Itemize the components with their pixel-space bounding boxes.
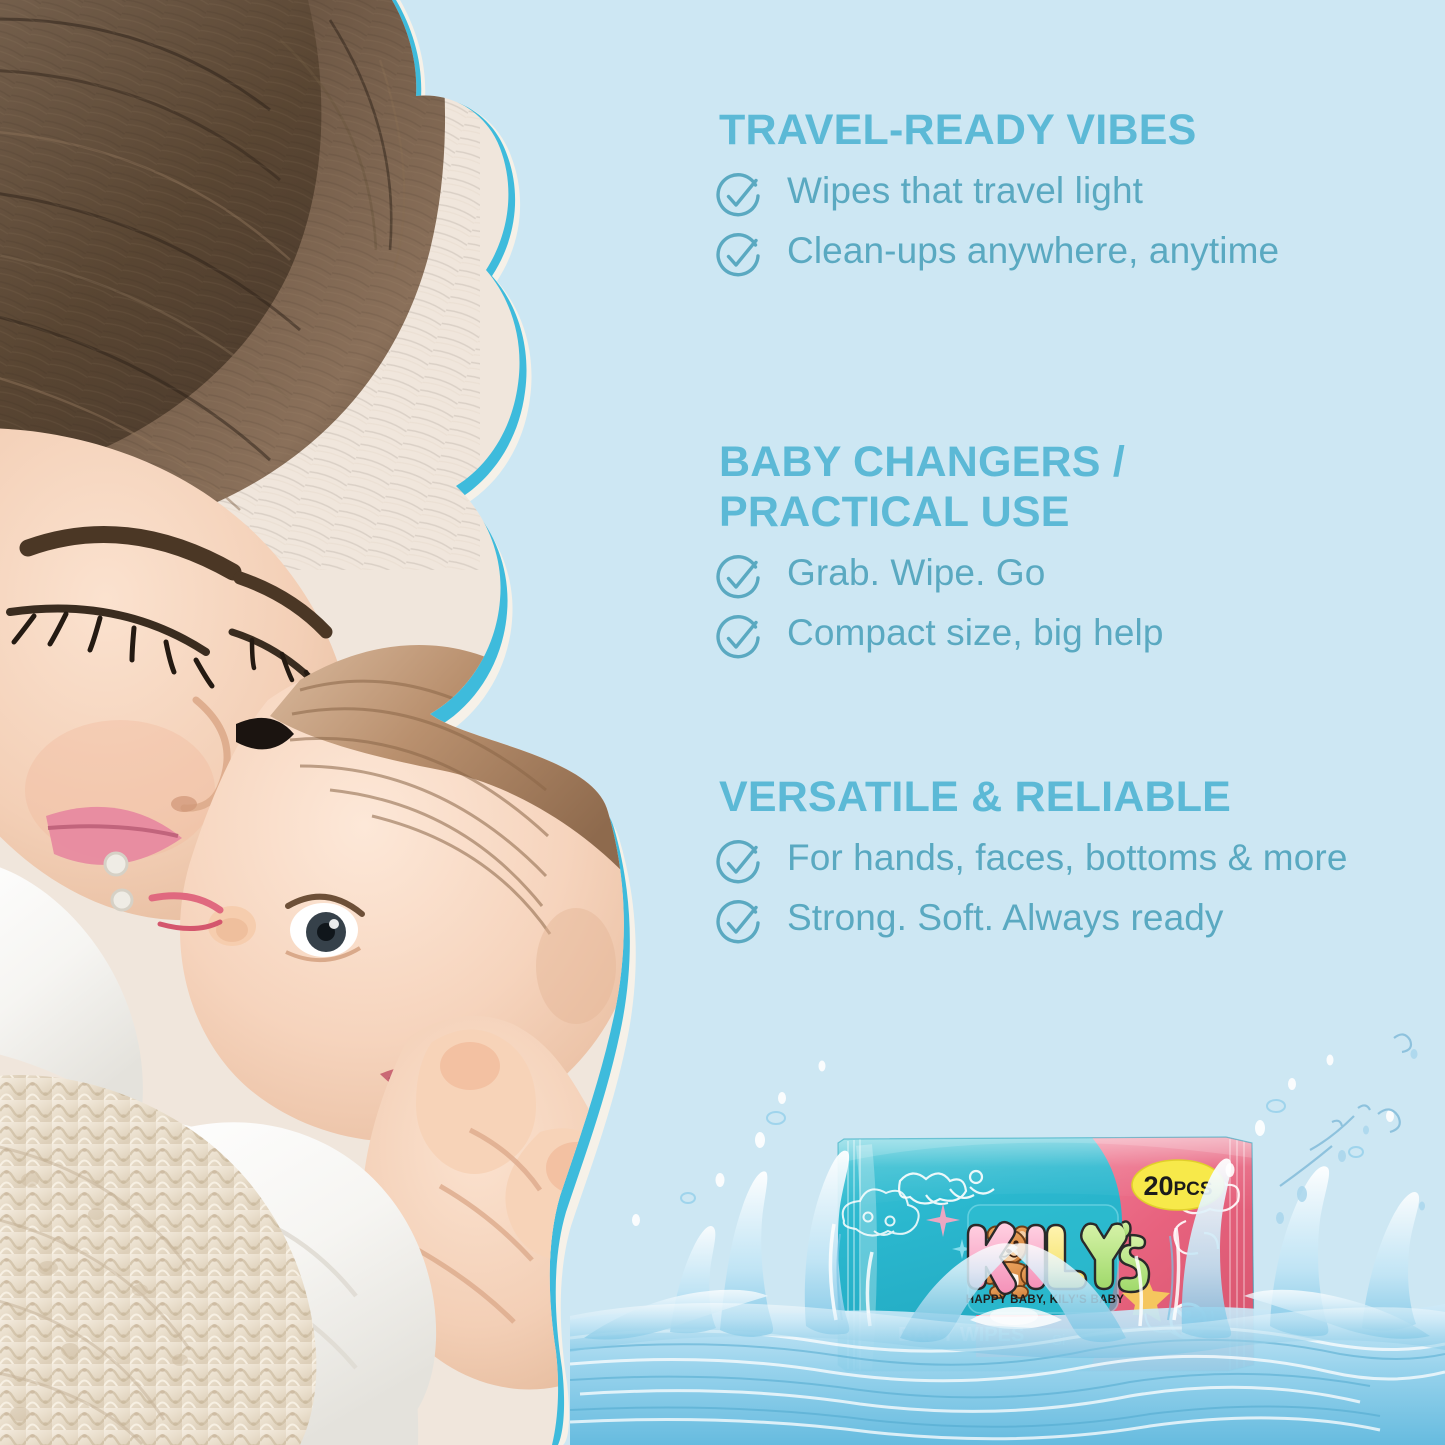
check-circle-icon (715, 173, 761, 219)
photo-illustration (0, 0, 700, 1445)
feature-section-travel: TRAVEL-READY VIBES Wipes that travel lig… (715, 105, 1435, 287)
feature-section-versatile: VERSATILE & RELIABLE For hands, faces, b… (715, 772, 1435, 954)
list-item: Wipes that travel light (715, 167, 1435, 219)
bullet-text: Grab. Wipe. Go (787, 549, 1045, 596)
section-title: TRAVEL-READY VIBES (719, 105, 1435, 155)
list-item: Clean-ups anywhere, anytime (715, 227, 1435, 279)
brand-logo (968, 1221, 1149, 1298)
product-package: 20PCS BABY WIPES Si HAPPY BABY, KILY'S B… (830, 1125, 1260, 1395)
bullet-text: For hands, faces, bottoms & more (787, 834, 1348, 881)
list-item: For hands, faces, bottoms & more (715, 834, 1435, 886)
sub-label-text: Si (1052, 1332, 1065, 1349)
check-circle-icon (715, 900, 761, 946)
front-label-text: BABY WIPES (898, 1324, 1024, 1346)
list-item: Strong. Soft. Always ready (715, 894, 1435, 946)
check-circle-icon (715, 615, 761, 661)
mother-baby-photo (0, 0, 700, 1445)
bullet-text: Compact size, big help (787, 609, 1164, 656)
feature-section-practical: BABY CHANGERS / PRACTICAL USE Grab. Wipe… (715, 437, 1435, 669)
list-item: Compact size, big help (715, 609, 1435, 661)
creative-canvas: TRAVEL-READY VIBES Wipes that travel lig… (0, 0, 1445, 1445)
bullet-text: Clean-ups anywhere, anytime (787, 227, 1279, 274)
check-circle-icon (715, 840, 761, 886)
bullet-list: For hands, faces, bottoms & more Strong.… (715, 834, 1435, 946)
section-title: BABY CHANGERS / PRACTICAL USE (719, 437, 1435, 537)
bullet-text: Wipes that travel light (787, 167, 1143, 214)
tagline-text: HAPPY BABY, KILY'S BABY (966, 1294, 1125, 1306)
bullet-list: Grab. Wipe. Go Compact size, big help (715, 549, 1435, 661)
bullet-list: Wipes that travel light Clean-ups anywhe… (715, 167, 1435, 279)
check-circle-icon (715, 555, 761, 601)
count-badge: 20PCS (1132, 1160, 1224, 1210)
list-item: Grab. Wipe. Go (715, 549, 1435, 601)
bullet-text: Strong. Soft. Always ready (787, 894, 1224, 941)
section-title: VERSATILE & RELIABLE (719, 772, 1435, 822)
check-circle-icon (715, 233, 761, 279)
